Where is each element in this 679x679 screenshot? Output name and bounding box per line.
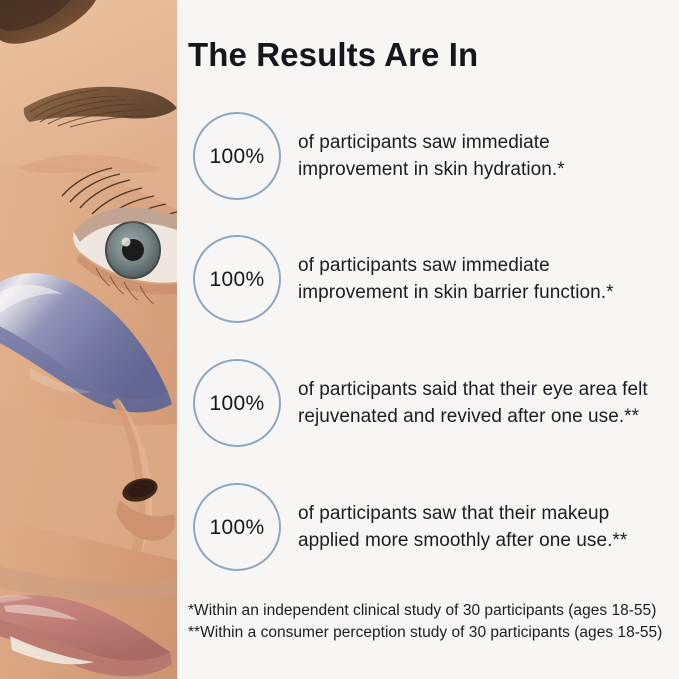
eye-closeup-illustration <box>0 0 177 679</box>
stat-badge: 100% <box>193 359 281 447</box>
stat-row: 100% of participants said that their eye… <box>177 359 679 447</box>
stat-description: of participants saw immediate improvemen… <box>298 252 673 306</box>
stat-badge-value: 100% <box>210 269 265 290</box>
stat-description-line: of participants saw immediate <box>298 252 673 279</box>
stat-description-line: applied more smoothly after one use.** <box>298 527 673 554</box>
stat-description-line: of participants said that their eye area… <box>298 376 673 403</box>
eye-closeup-photo <box>0 0 177 679</box>
stat-row: 100% of participants saw immediate impro… <box>177 112 679 200</box>
stat-description: of participants saw that their makeup ap… <box>298 500 673 554</box>
stat-description: of participants said that their eye area… <box>298 376 673 430</box>
stat-badge: 100% <box>193 235 281 323</box>
results-content-panel: The Results Are In 100% of participants … <box>177 0 679 679</box>
stat-row: 100% of participants saw immediate impro… <box>177 235 679 323</box>
results-infographic: The Results Are In 100% of participants … <box>0 0 679 679</box>
footnote-double-asterisk: **Within a consumer perception study of … <box>188 622 673 644</box>
stat-badge-value: 100% <box>210 517 265 538</box>
stat-badge-value: 100% <box>210 393 265 414</box>
stat-description-line: of participants saw immediate <box>298 129 673 156</box>
stat-description: of participants saw immediate improvemen… <box>298 129 673 183</box>
stat-badge: 100% <box>193 112 281 200</box>
stat-row: 100% of participants saw that their make… <box>177 483 679 571</box>
stat-description-line: improvement in skin hydration.* <box>298 156 673 183</box>
stat-description-line: of participants saw that their makeup <box>298 500 673 527</box>
footnote-single-asterisk: *Within an independent clinical study of… <box>188 600 673 622</box>
stat-description-line: improvement in skin barrier function.* <box>298 279 673 306</box>
page-title: The Results Are In <box>188 36 478 74</box>
stat-badge: 100% <box>193 483 281 571</box>
footnotes: *Within an independent clinical study of… <box>188 600 673 644</box>
stat-badge-value: 100% <box>210 146 265 167</box>
stat-description-line: rejuvenated and revived after one use.** <box>298 403 673 430</box>
